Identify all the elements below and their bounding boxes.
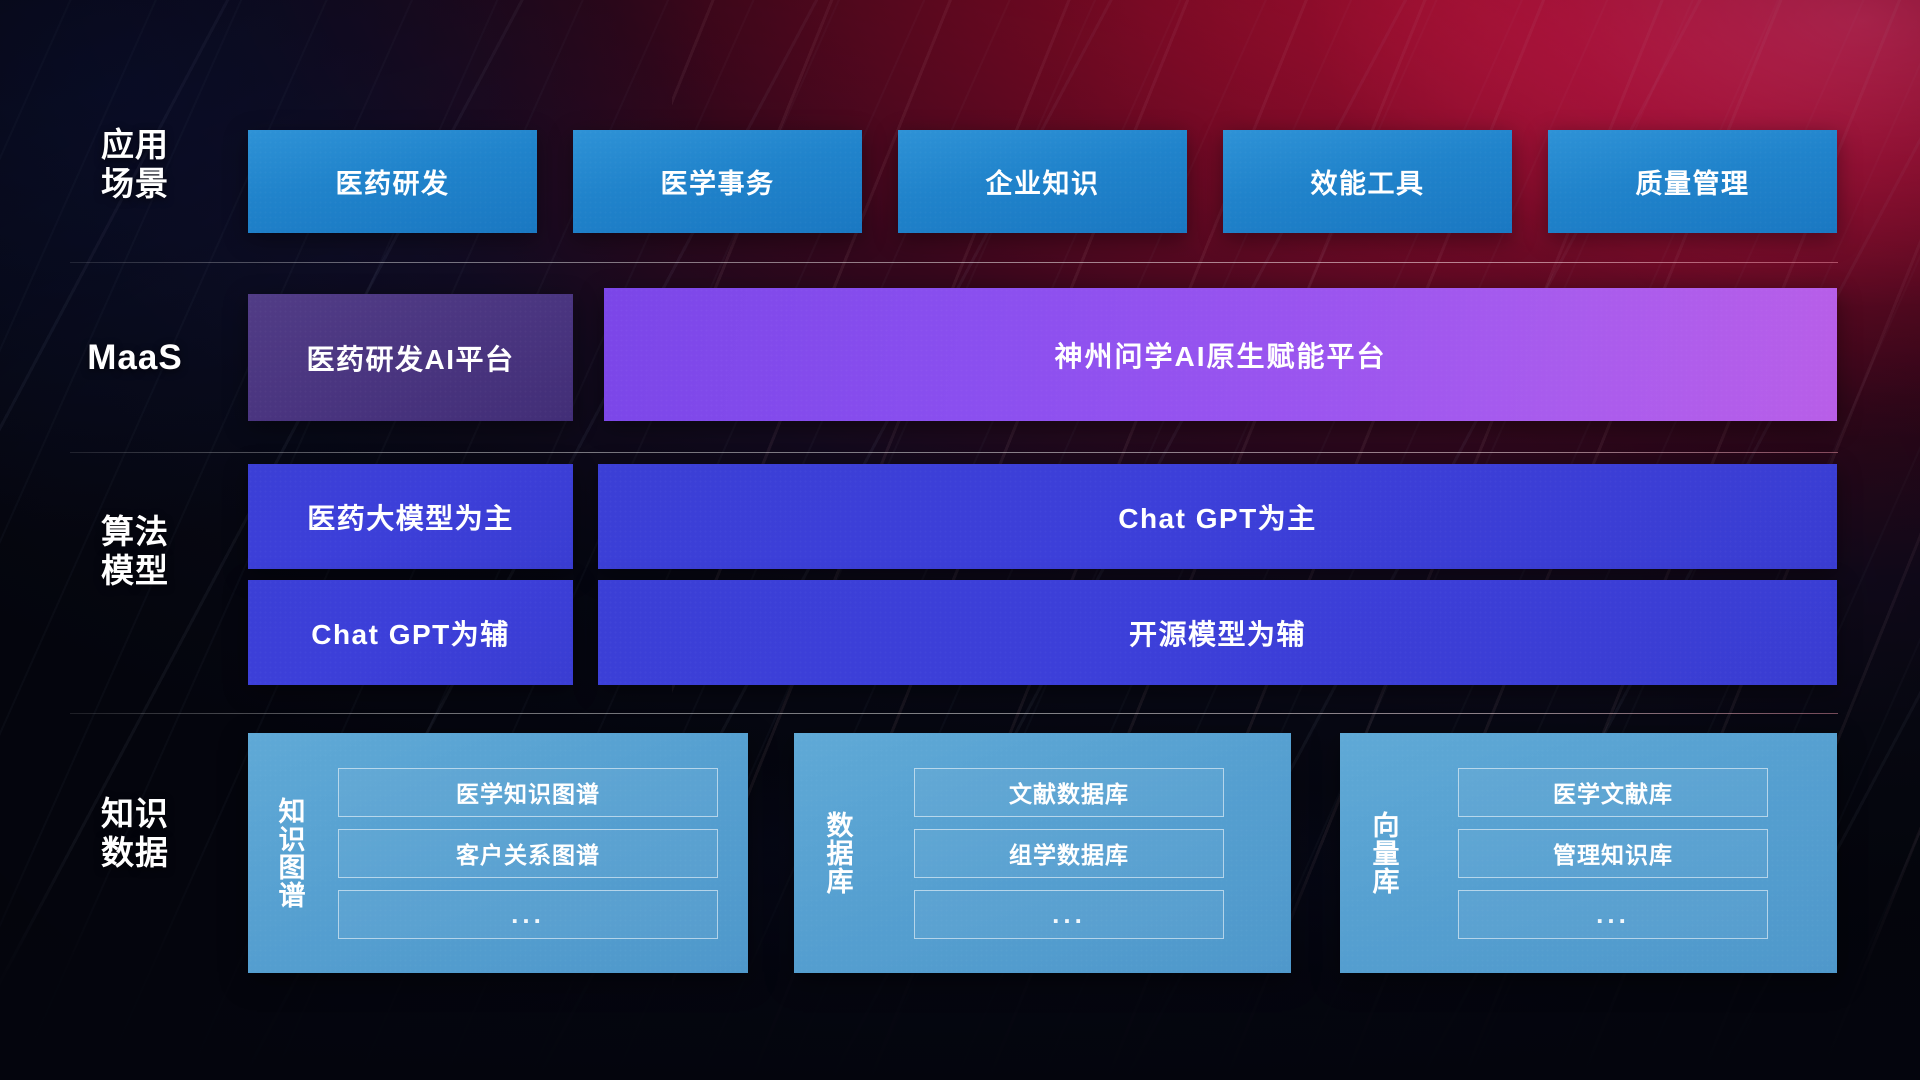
scene-cell-4-label: 效能工具 — [1311, 162, 1425, 201]
algo-left-cell-1-label: 医药大模型为主 — [307, 497, 514, 537]
scene-cell-2-label: 医学事务 — [661, 162, 775, 201]
scene-cell-1[interactable]: 医药研发 — [248, 130, 537, 233]
knowledge-panel-vector-title: 向量库 — [1340, 733, 1426, 973]
maas-enablement-platform-label: 神州问学AI原生赋能平台 — [1054, 335, 1386, 375]
knowledge-panel-graph-title: 知识图谱 — [248, 733, 330, 973]
knowledge-panel-database-items: 文献数据库 组学数据库 ... — [914, 733, 1224, 973]
row-label-algorithm-models: 算法 模型 — [60, 513, 210, 591]
row-label-algo-line-2: 模型 — [60, 552, 210, 591]
knowledge-item[interactable]: 医学文献库 — [1458, 768, 1768, 817]
knowledge-item[interactable]: 医学知识图谱 — [338, 768, 718, 817]
scene-cell-3[interactable]: 企业知识 — [898, 130, 1187, 233]
row-label-knowledge-line-1: 知识 — [60, 795, 210, 834]
knowledge-panel-vector[interactable]: 向量库 医学文献库 管理知识库 ... — [1340, 733, 1837, 973]
row-label-line-1: 应用 — [60, 126, 210, 165]
algo-right-cell-2-label: 开源模型为辅 — [1129, 613, 1306, 653]
row-label-maas-text: MaaS — [60, 337, 210, 378]
algo-left-cell-2-label: Chat GPT为辅 — [311, 613, 510, 653]
diagram-grid: 应用 场景 医药研发 医学事务 企业知识 效能工具 质量管理 MaaS 医药研发… — [0, 0, 1920, 1080]
algo-right-cell-1[interactable]: Chat GPT为主 — [598, 464, 1837, 569]
knowledge-panel-graph-items: 医学知识图谱 客户关系图谱 ... — [338, 733, 718, 973]
scene-cell-4[interactable]: 效能工具 — [1223, 130, 1512, 233]
row-label-application-scenarios: 应用 场景 — [60, 126, 210, 204]
maas-platform-label: 医药研发AI平台 — [306, 338, 514, 378]
knowledge-item-more[interactable]: ... — [1458, 890, 1768, 939]
divider-1 — [70, 262, 1838, 263]
scene-cell-2[interactable]: 医学事务 — [573, 130, 862, 233]
knowledge-panel-vector-items: 医学文献库 管理知识库 ... — [1458, 733, 1768, 973]
architecture-diagram-slide: 应用 场景 医药研发 医学事务 企业知识 效能工具 质量管理 MaaS 医药研发… — [0, 0, 1920, 1080]
algo-right-cell-1-label: Chat GPT为主 — [1118, 497, 1317, 537]
maas-platform-cell[interactable]: 医药研发AI平台 — [248, 294, 573, 421]
row-label-algo-line-1: 算法 — [60, 513, 210, 552]
algo-left-cell-2[interactable]: Chat GPT为辅 — [248, 580, 573, 685]
knowledge-item[interactable]: 组学数据库 — [914, 829, 1224, 878]
knowledge-panel-database[interactable]: 数据库 文献数据库 组学数据库 ... — [794, 733, 1291, 973]
row-label-knowledge-data: 知识 数据 — [60, 795, 210, 873]
algo-right-cell-2[interactable]: 开源模型为辅 — [598, 580, 1837, 685]
row-label-maas: MaaS — [60, 337, 210, 378]
scene-cell-5[interactable]: 质量管理 — [1548, 130, 1837, 233]
scene-cell-3-label: 企业知识 — [986, 162, 1100, 201]
row-label-knowledge-line-2: 数据 — [60, 834, 210, 873]
knowledge-item-more[interactable]: ... — [338, 890, 718, 939]
knowledge-item[interactable]: 客户关系图谱 — [338, 829, 718, 878]
divider-2 — [70, 452, 1838, 453]
knowledge-item[interactable]: 管理知识库 — [1458, 829, 1768, 878]
knowledge-item[interactable]: 文献数据库 — [914, 768, 1224, 817]
row-label-line-2: 场景 — [60, 165, 210, 204]
maas-enablement-platform-cell[interactable]: 神州问学AI原生赋能平台 — [604, 288, 1837, 421]
knowledge-item-more[interactable]: ... — [914, 890, 1224, 939]
divider-3 — [70, 713, 1838, 714]
scene-cell-5-label: 质量管理 — [1636, 162, 1750, 201]
knowledge-panel-database-title: 数据库 — [794, 733, 880, 973]
algo-left-cell-1[interactable]: 医药大模型为主 — [248, 464, 573, 569]
knowledge-panel-graph[interactable]: 知识图谱 医学知识图谱 客户关系图谱 ... — [248, 733, 748, 973]
scene-cell-1-label: 医药研发 — [336, 162, 450, 201]
